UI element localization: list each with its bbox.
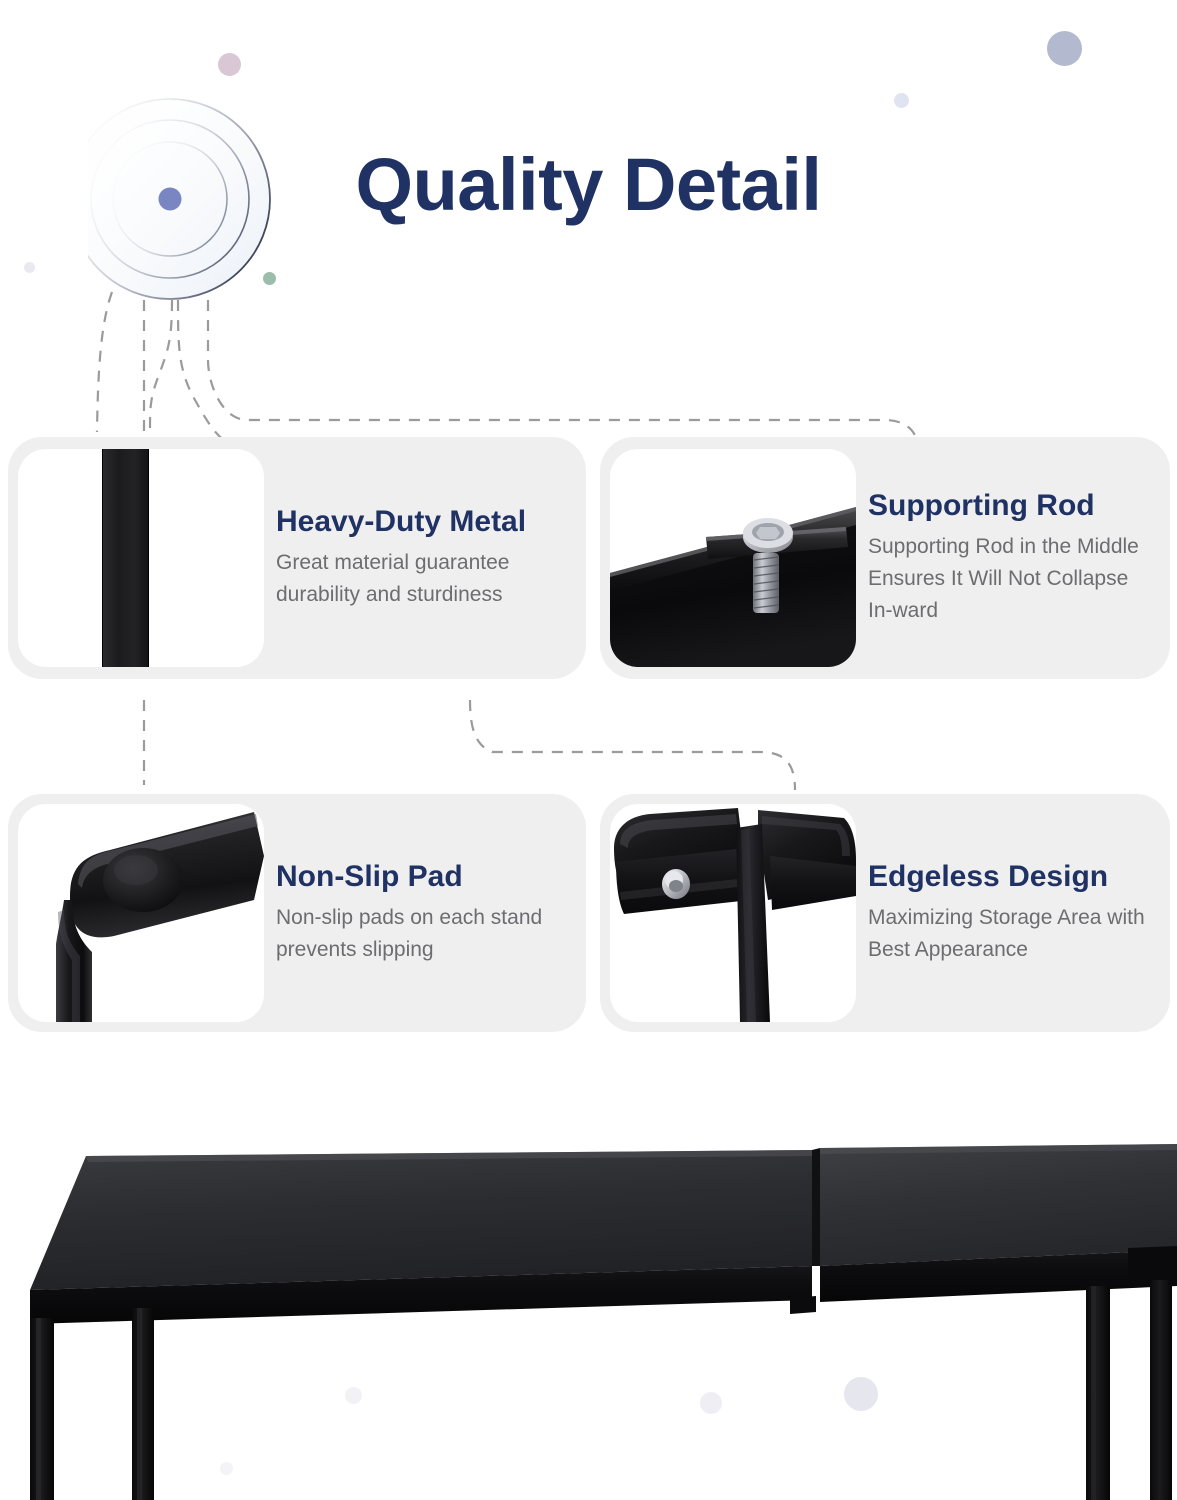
feature-card-edgeless-design[interactable]: Edgeless Design Maximizing Storage Area … <box>600 794 1170 1032</box>
non-slip-pad-photo <box>18 804 264 1022</box>
feature-title: Non-Slip Pad <box>276 860 572 893</box>
dot-photo-1 <box>345 1387 362 1404</box>
feature-card-non-slip-pad[interactable]: Non-Slip Pad Non-slip pads on each stand… <box>8 794 586 1032</box>
feature-card-supporting-rod[interactable]: Supporting Rod Supporting Rod in the Mid… <box>600 437 1170 679</box>
feature-description: Maximizing Storage Area with Best Appear… <box>868 902 1156 966</box>
page-title: Quality Detail <box>0 148 1177 222</box>
dot-photo-4 <box>220 1462 233 1475</box>
dot-pale-left <box>24 262 35 273</box>
feature-description: Supporting Rod in the Middle Ensures It … <box>868 531 1156 627</box>
dot-photo-3 <box>844 1377 878 1411</box>
feature-title: Edgeless Design <box>868 860 1156 893</box>
dot-photo-2 <box>700 1392 722 1414</box>
feature-text-block: Supporting Rod Supporting Rod in the Mid… <box>856 489 1170 627</box>
dot-pink <box>218 53 241 76</box>
feature-description: Great material guarantee durability and … <box>276 547 572 611</box>
infographic-page: Quality Detail Heavy-Duty Metal Great ma… <box>0 0 1177 1500</box>
metal-bar-photo <box>18 449 264 667</box>
dot-pale-blue <box>894 93 909 108</box>
feature-card-heavy-duty-metal[interactable]: Heavy-Duty Metal Great material guarante… <box>8 437 586 679</box>
feature-title: Supporting Rod <box>868 489 1156 522</box>
black-console-table-photo <box>0 1100 1177 1500</box>
feature-text-block: Edgeless Design Maximizing Storage Area … <box>856 860 1170 966</box>
feature-description: Non-slip pads on each stand prevents sli… <box>276 902 572 966</box>
dot-blue-gray <box>1047 31 1082 66</box>
feature-text-block: Non-Slip Pad Non-slip pads on each stand… <box>264 860 586 966</box>
supporting-rod-photo <box>610 449 856 667</box>
metal-bar-shape <box>102 449 149 667</box>
edgeless-corner-photo <box>610 804 856 1022</box>
feature-text-block: Heavy-Duty Metal Great material guarante… <box>264 505 586 611</box>
feature-title: Heavy-Duty Metal <box>276 505 572 538</box>
